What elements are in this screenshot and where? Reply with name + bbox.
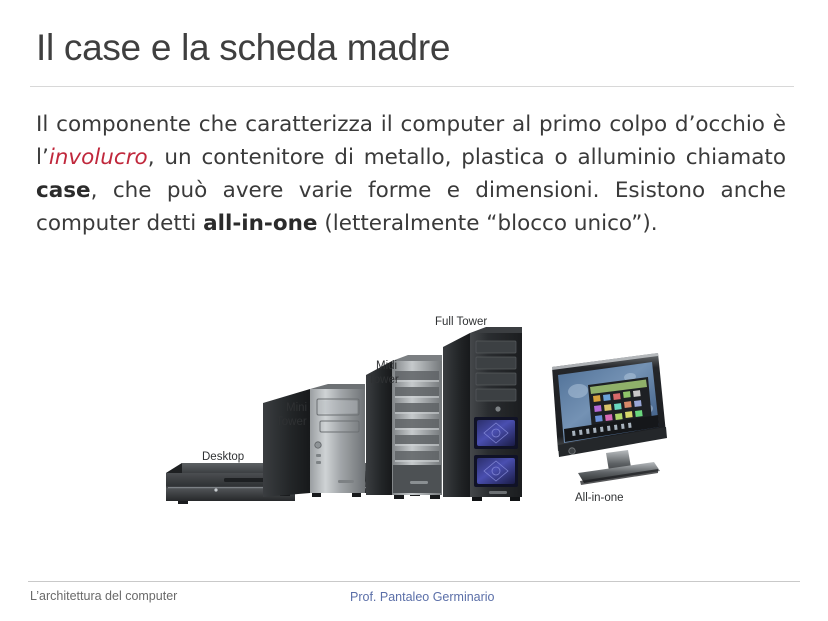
case-mini-tower: [263, 384, 365, 497]
body-paragraph: Il componente che caratterizza il comput…: [36, 108, 786, 240]
title-divider: [30, 86, 794, 87]
label-mini-tower-line2: Tower: [276, 416, 307, 428]
computer-cases-illustration: Desktop Mini Tower: [160, 305, 670, 520]
case-full-tower: [443, 327, 522, 501]
body-segment-6: (letteralmente “blocco unico”).: [318, 211, 658, 236]
footer-author-label: Prof. Pantaleo Germinario: [350, 590, 495, 604]
body-segment-highlight-involucro: involucro: [49, 145, 148, 170]
label-all-in-one: All-in-one: [575, 492, 624, 504]
label-mini-tower-line1: Mini: [286, 402, 307, 414]
footer-section-label: L’architettura del computer: [30, 589, 177, 603]
body-segment-2: , un contenitore di metallo, plastica o …: [148, 145, 786, 170]
label-desktop: Desktop: [202, 451, 244, 463]
label-full-tower: Full Tower: [435, 316, 487, 328]
page-title: Il case e la scheda madre: [36, 28, 796, 69]
label-midi-tower-line1: Midi: [376, 360, 397, 372]
case-all-in-one: [552, 353, 667, 485]
footer-divider: [28, 581, 800, 582]
body-segment-bold-case: case: [36, 178, 91, 203]
body-segment-bold-all-in-one: all-in-one: [203, 211, 317, 236]
label-midi-tower-line2: Tower: [368, 374, 399, 386]
